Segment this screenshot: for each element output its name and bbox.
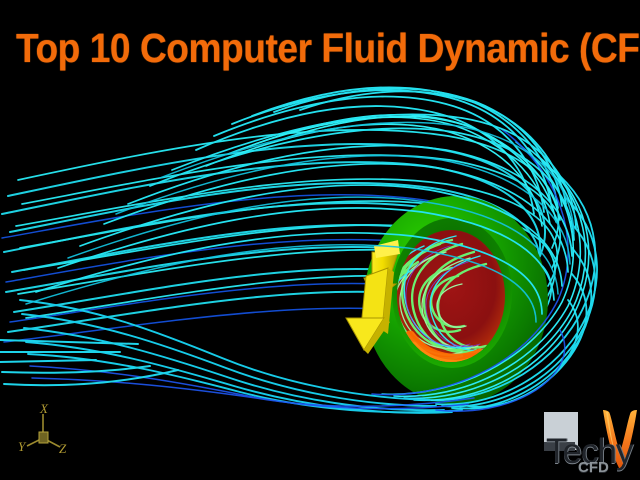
techy-cfd-logo[interactable]: Techy CFD: [540, 406, 640, 480]
axis-label-z: Z: [59, 442, 66, 455]
axis-label-y: Y: [18, 440, 25, 453]
logo-subtext: CFD: [578, 460, 609, 475]
cfd-image-canvas: Top 10 Computer Fluid Dynamic (CFD) Soft…: [0, 0, 640, 480]
coordinate-axis-triad: X Y Z: [18, 402, 78, 458]
axis-label-x: X: [40, 402, 48, 415]
page-title: Top 10 Computer Fluid Dynamic (CFD) Soft…: [16, 26, 572, 70]
axis-origin-cube: [39, 432, 48, 443]
